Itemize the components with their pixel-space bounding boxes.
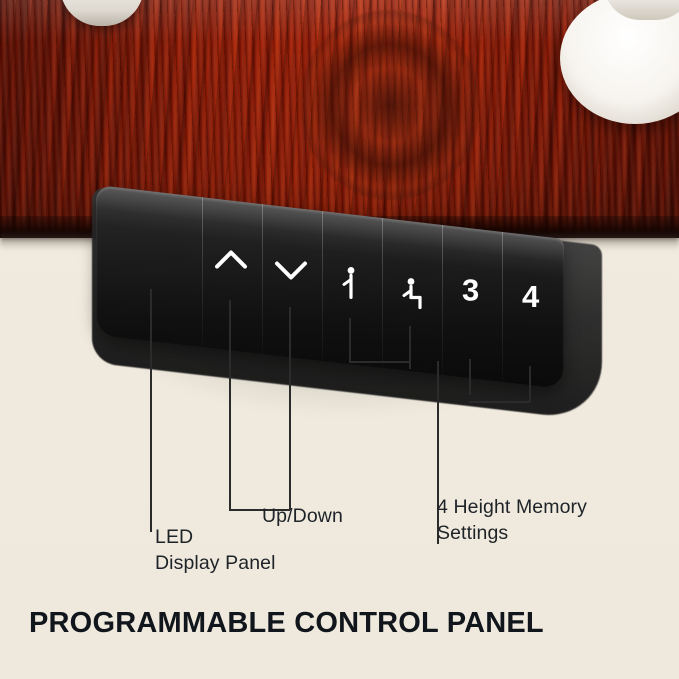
leader-line-down (289, 307, 291, 510)
leader-line-up (229, 300, 231, 510)
callout-up-down: Up/Down (262, 503, 343, 529)
leader-line-led (150, 289, 152, 532)
sitting-person-icon (400, 277, 424, 316)
leader-bracket-memory-34 (469, 401, 530, 403)
leader-line-memory-1 (349, 318, 351, 362)
leader-line-memory-4 (529, 366, 531, 402)
led-display-panel[interactable] (96, 185, 202, 347)
up-button[interactable] (202, 197, 262, 354)
memory-4-label: 4 (522, 279, 539, 315)
chevron-up-icon (214, 249, 248, 276)
leader-bracket-memory-12 (349, 361, 410, 363)
chevron-down-icon (274, 259, 308, 286)
product-feature-image: 3 4 LED Display Panel Up/Down 4 Height M… (0, 0, 679, 679)
memory-button-1[interactable] (322, 211, 382, 368)
callout-height-memory: 4 Height Memory Settings (437, 494, 587, 546)
leader-line-memory-3 (469, 359, 471, 395)
memory-button-4[interactable]: 4 (502, 232, 564, 389)
memory-3-label: 3 (462, 272, 479, 308)
down-button[interactable] (262, 204, 322, 361)
memory-button-3[interactable]: 3 (442, 225, 502, 382)
standing-person-icon (340, 266, 362, 305)
memory-button-2[interactable] (382, 218, 442, 375)
callout-led-display: LED Display Panel (155, 524, 276, 576)
page-title: PROGRAMMABLE CONTROL PANEL (29, 607, 544, 640)
